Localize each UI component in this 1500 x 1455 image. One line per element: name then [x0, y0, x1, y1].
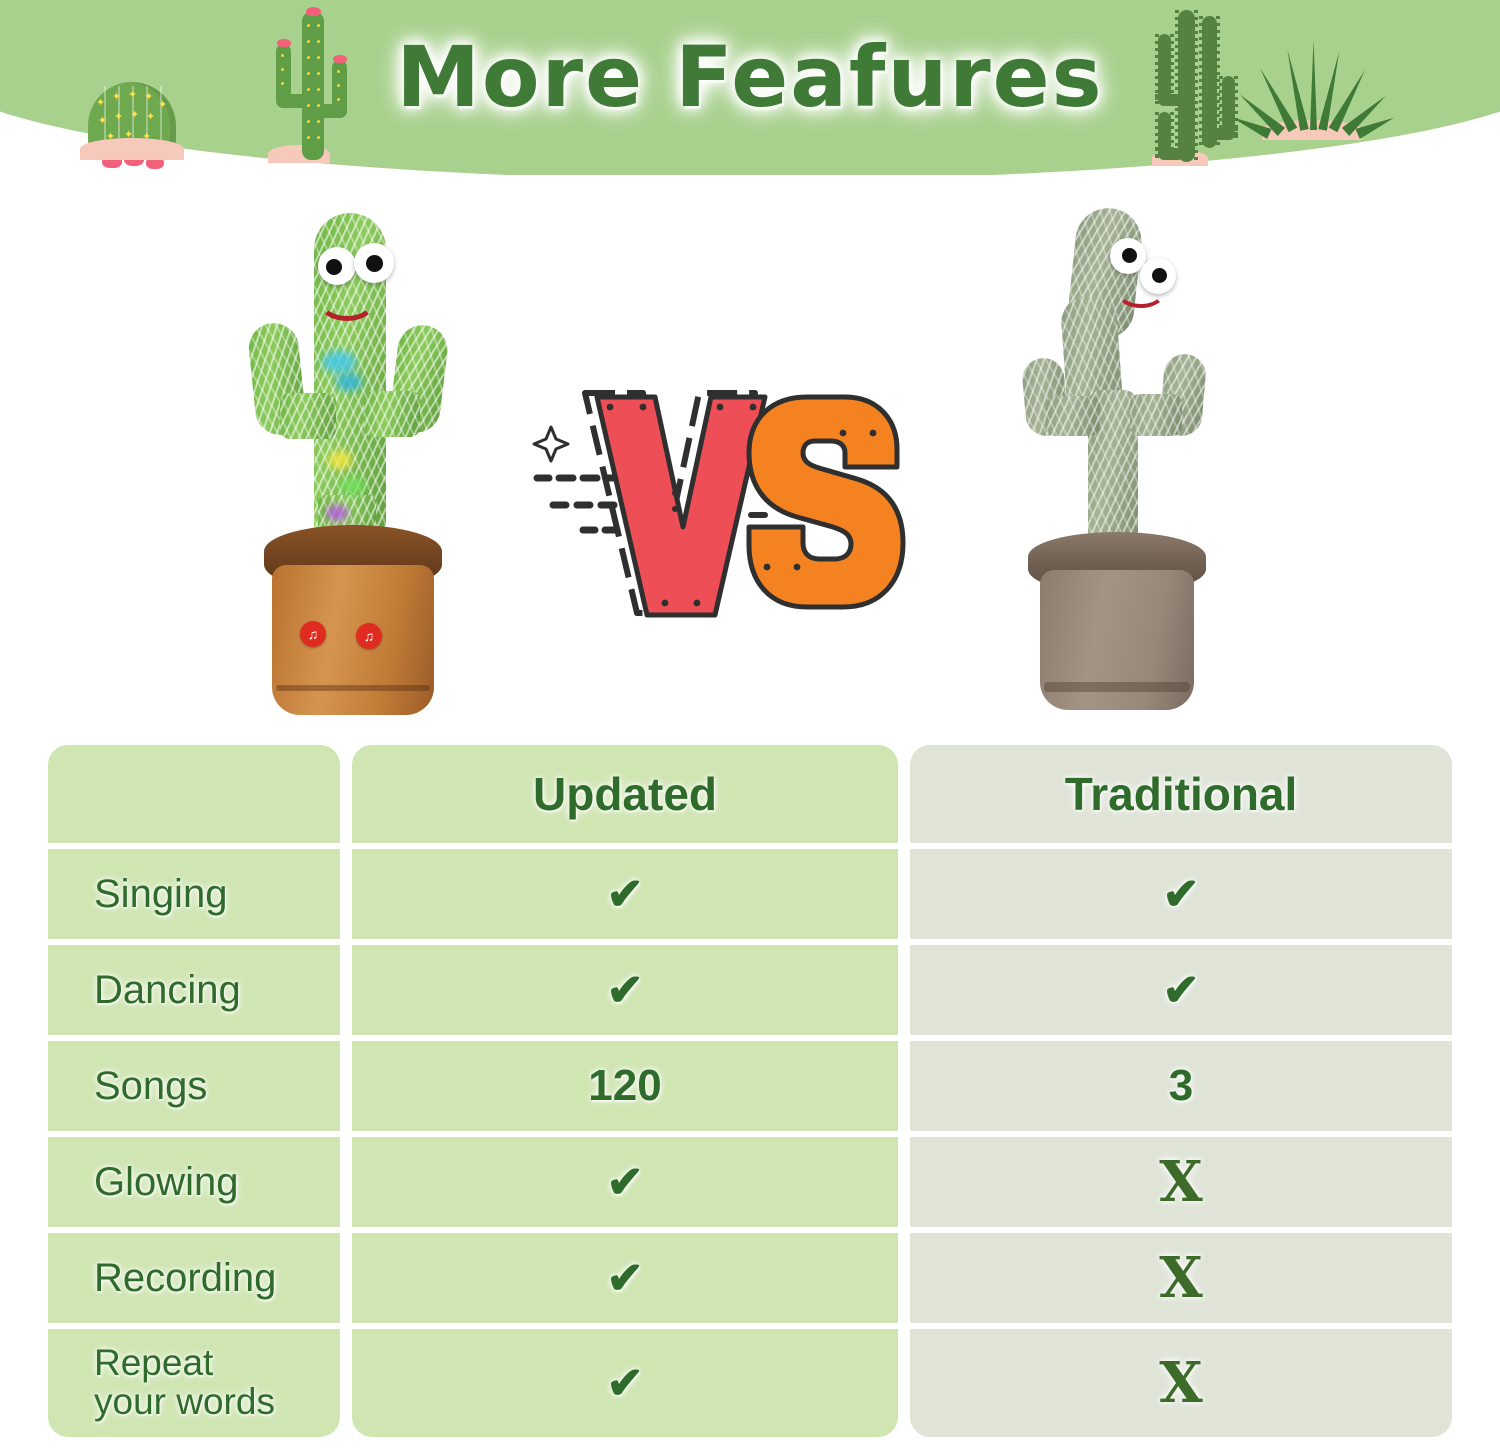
table-row-label: Dancing [48, 945, 340, 1035]
table-row-label-repeat: Repeat your words [48, 1329, 340, 1437]
vs-s-letter [749, 397, 903, 607]
table-row-label-line2: your words [94, 1383, 275, 1422]
table-row-label-line1: Repeat [94, 1344, 275, 1383]
column-gap [340, 849, 352, 939]
column-gap [898, 1233, 910, 1323]
table-cell-updated-check: ✔ [352, 1329, 898, 1437]
table-cell-traditional-check: ✔ [910, 945, 1452, 1035]
table-header-traditional: Traditional [910, 745, 1452, 843]
table-cell-updated-check: ✔ [352, 1233, 898, 1323]
sparkle-icon [534, 427, 568, 461]
table-header-blank [48, 745, 340, 843]
cactus-pupil-left [326, 259, 342, 275]
cactus-pupil-right [366, 255, 383, 272]
vs-v-letter [597, 397, 765, 615]
column-gap [340, 1137, 352, 1227]
column-gap [898, 849, 910, 939]
column-gap [340, 1041, 352, 1131]
column-gap [898, 1329, 910, 1437]
table-row-label: Songs [48, 1041, 340, 1131]
table-cell-traditional-check: ✔ [910, 849, 1452, 939]
table-cell-updated-check: ✔ [352, 849, 898, 939]
led-glow [336, 373, 362, 391]
column-gap [340, 1329, 352, 1437]
column-gap [898, 745, 910, 843]
column-gap [898, 945, 910, 1035]
sand-mound-left [80, 138, 184, 160]
table-header-updated: Updated [352, 745, 898, 843]
table-row-label: Singing [48, 849, 340, 939]
table-row-label: Recording [48, 1233, 340, 1323]
comparison-table: Updated Traditional Singing ✔ ✔ Dancing … [48, 745, 1452, 1445]
table-cell-updated-check: ✔ [352, 945, 898, 1035]
pot-base-line-traditional [1044, 682, 1190, 692]
table-cell-traditional-cross: X [1159, 1350, 1202, 1416]
table-cell-traditional-songs: 3 [910, 1041, 1452, 1131]
cactus-pupil-left-traditional [1122, 248, 1137, 263]
vs-badge [515, 375, 915, 640]
column-gap [898, 1137, 910, 1227]
cactus-arm-right-joint-traditional [1130, 394, 1182, 436]
led-glow [340, 477, 366, 495]
column-gap [340, 945, 352, 1035]
cactus-arm-left-joint-traditional [1046, 396, 1100, 436]
cactus-arm-left-joint [280, 393, 336, 439]
led-glow [322, 351, 356, 373]
column-gap [340, 745, 352, 843]
speed-lines-icon [537, 478, 623, 530]
cactus-smile [318, 281, 376, 321]
page-title: More Feafures [0, 28, 1500, 126]
product-image-updated: ♫ ♫ [240, 195, 500, 725]
pot-base-line [276, 685, 430, 691]
table-cell-updated-check: ✔ [352, 1137, 898, 1227]
column-gap [898, 1041, 910, 1131]
column-gap [340, 1233, 352, 1323]
led-glow [328, 451, 352, 469]
header-banner: ✦ ✦ ✦ ✦ ✦ ✦ ✦ ✦ ✦ ✦ ✦ ✦ [0, 0, 1500, 175]
table-cell-updated-songs: 120 [352, 1041, 898, 1131]
product-image-traditional [1010, 200, 1240, 720]
pot-traditional [1024, 532, 1210, 722]
led-glow [326, 505, 348, 521]
cactus-smile-traditional [1116, 274, 1166, 308]
pot-body [272, 565, 434, 715]
cactus-arm-right-joint [364, 391, 420, 437]
music-note-button-1[interactable]: ♫ [300, 621, 326, 647]
table-row-label: Glowing [48, 1137, 340, 1227]
table-cell-traditional-cross: X [1159, 1245, 1202, 1311]
pot-updated: ♫ ♫ [258, 525, 448, 725]
music-note-button-2[interactable]: ♫ [356, 623, 382, 649]
table-cell-traditional-cross: X [1159, 1149, 1202, 1215]
